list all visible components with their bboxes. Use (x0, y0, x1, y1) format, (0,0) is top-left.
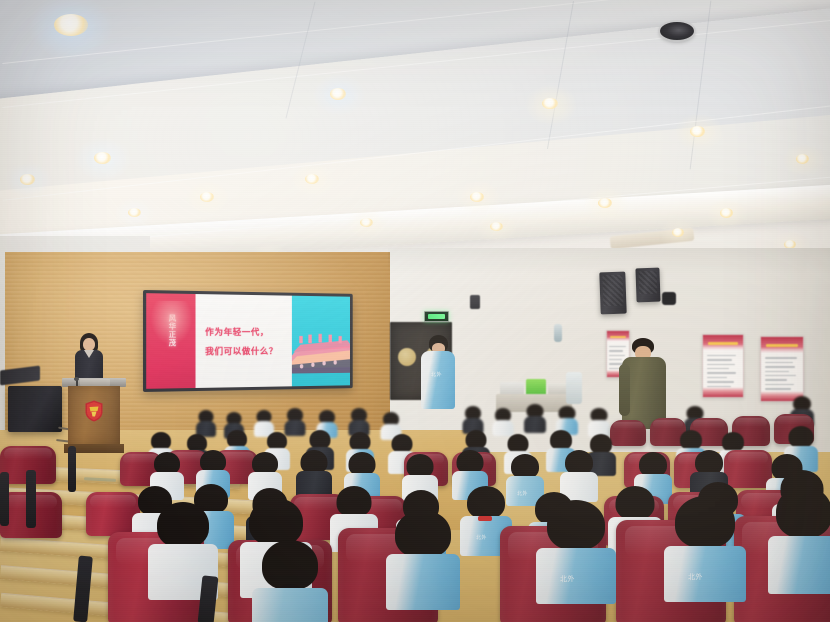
ceiling-downlight (54, 14, 88, 36)
ceiling-downlight (94, 152, 111, 164)
audience-person (296, 450, 332, 498)
ceiling-camera-icon (660, 22, 694, 40)
ceiling-downlight (330, 88, 346, 100)
audience-person (196, 410, 216, 436)
audience-person-front: 北外 (664, 496, 746, 598)
ceiling-downlight (598, 198, 612, 208)
wall-shadow (388, 248, 830, 274)
wall-fixture (554, 324, 562, 342)
water-dispenser (566, 372, 582, 404)
audience-person-front (386, 510, 460, 606)
speaker-podium[interactable] (66, 378, 122, 454)
slide-right-panel (292, 296, 350, 387)
audience-person (524, 404, 546, 432)
seat-armrest (68, 446, 76, 492)
standing-student-blue-uniform: 北外 (420, 335, 456, 415)
school-emblem-icon (85, 400, 104, 422)
wall-speaker-left (599, 272, 626, 315)
slide-line-1: 作为年轻一代， (205, 325, 292, 337)
uniform-text: 北外 (560, 574, 575, 584)
projection-screen[interactable]: 风华正茂 作为年轻一代， 我们可以做什么？ (143, 290, 353, 392)
ceiling-downlight (360, 218, 373, 227)
slide-vertical-text: 风华正茂 (166, 314, 176, 347)
ceiling-downlight (200, 192, 214, 202)
tiananmen-illustration-icon (292, 330, 350, 374)
ceiling-downlight (128, 208, 141, 217)
poster-middle (702, 334, 744, 398)
door-reflection (398, 348, 416, 366)
emergency-exit-sign-icon (424, 311, 449, 322)
stage-monitor-screen (0, 368, 44, 388)
audience-person (588, 408, 610, 436)
audience-person (462, 406, 483, 433)
ceiling-downlight (720, 208, 733, 218)
auditorium-photo: 风华正茂 作为年轻一代， 我们可以做什么？ (0, 0, 830, 622)
ceiling-downlight (490, 222, 503, 231)
ceiling-downlight (305, 174, 319, 184)
seat-armrest (0, 472, 9, 526)
audience-person-ponytail-front (252, 540, 328, 622)
wall-camera-icon (470, 295, 480, 309)
uniform-text: 北外 (431, 371, 442, 378)
wall-mount-box (662, 292, 676, 305)
uniform-text: 北外 (688, 572, 703, 582)
teacher-arm (619, 364, 630, 416)
ceiling-downlight (690, 126, 705, 137)
slide-left-panel: 风华正茂 (146, 293, 196, 389)
audience-person-front: 北外 (536, 500, 616, 600)
audience-person (348, 408, 369, 435)
audience-person-front (768, 486, 830, 590)
stage-monitor (8, 386, 62, 432)
uniform-text: 北外 (517, 490, 528, 497)
uniform-text: 北外 (476, 534, 487, 541)
slide-content: 风华正茂 作为年轻一代， 我们可以做什么？ (146, 293, 350, 389)
ceiling-downlight (672, 228, 684, 237)
audience-person (284, 408, 305, 435)
seat-armrest (26, 470, 36, 528)
student-uniform (421, 351, 455, 409)
poster-right (760, 336, 804, 402)
wall-speaker-right (635, 268, 660, 303)
ceiling-downlight (796, 154, 809, 164)
ceiling-downlight (470, 192, 484, 202)
ceiling-downlight (542, 98, 558, 109)
audience-person (492, 408, 513, 435)
ceiling-downlight (20, 174, 35, 185)
slide-line-2: 我们可以做什么？ (205, 344, 292, 356)
podium-laptop (80, 379, 110, 386)
slide-body-panel: 作为年轻一代， 我们可以做什么？ (196, 294, 292, 388)
microphone-head-icon (74, 377, 79, 381)
